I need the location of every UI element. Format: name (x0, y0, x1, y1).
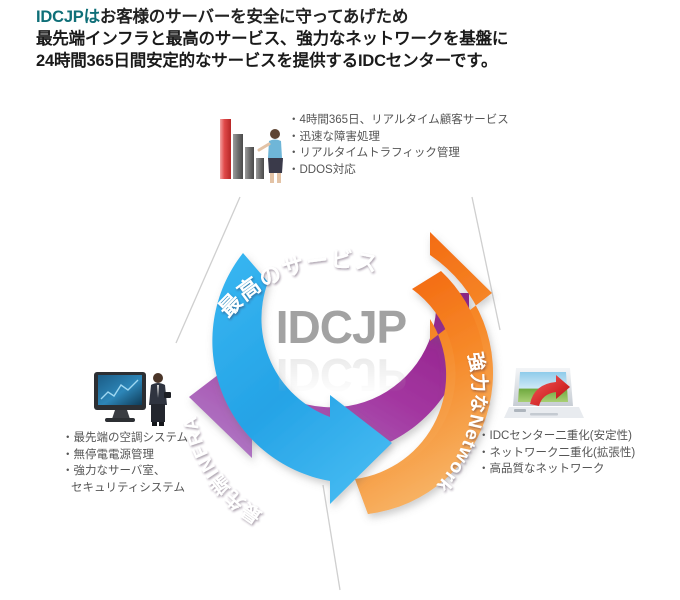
bullet-marker: ・ (62, 449, 74, 461)
monitor (94, 372, 146, 422)
center-wordmark-reflection-text: IDCJP (276, 349, 407, 401)
list-item-label: IDCセンター二重化(安定性) (490, 430, 632, 442)
bullet-marker: ・ (478, 430, 490, 442)
heading-line-1: IDCJPはお客様のサーバーを安全に守ってあげため (36, 6, 656, 28)
bullet-marker: ・ (288, 131, 300, 143)
businessman-figure (149, 373, 171, 426)
bullet-marker: ・ (288, 164, 300, 176)
heading-line-3: 24時間365日間安定的なサービスを提供するIDCセンターです。 (36, 50, 656, 72)
monitor-businessman-icon (88, 366, 180, 432)
bullet-marker: ・ (288, 114, 300, 126)
bullet-marker: ・ (288, 147, 300, 159)
list-item-label: 4時間365日、リアルタイム顧客サービス (300, 114, 509, 126)
list-item: ・迅速な障害処理 (288, 129, 509, 146)
list-item-label: 迅速な障害処理 (300, 131, 381, 143)
list-item-label: 強力なサーバ室、 (74, 465, 166, 477)
center-wordmark-reflection: IDCJP (276, 349, 407, 401)
bar-3 (245, 147, 254, 179)
callout-left-list: ・最先端の空調システム ・無停電電源管理 ・強力なサーバ室、 セキュリティシステ… (62, 430, 188, 496)
bar-chart-person-icon (208, 108, 292, 192)
bullet-marker: ・ (62, 465, 74, 477)
list-item: ・IDCセンター二重化(安定性) (478, 428, 635, 445)
center-wordmark: IDCJP IDCJP (276, 301, 407, 401)
bullet-marker: ・ (62, 432, 74, 444)
heading-line-1-rest: お客様のサーバーを安全に守ってあげため (100, 8, 408, 26)
heading-line-2: 最先端インフラと最高のサービス、強力なネットワークを基盤に (36, 28, 656, 50)
callout-top-list: ・4時間365日、リアルタイム顧客サービス ・迅速な障害処理 ・リアルタイムトラ… (288, 112, 509, 178)
page-heading: IDCJPはお客様のサーバーを安全に守ってあげため 最先端インフラと最高のサービ… (36, 6, 656, 72)
bar-1 (220, 119, 231, 179)
bullet-marker: ・ (478, 463, 490, 475)
list-item: ・高品質なネットワーク (478, 461, 635, 478)
bar-2 (233, 134, 243, 179)
bullet-marker: ・ (478, 447, 490, 459)
list-item-label: ネットワーク二重化(拡張性) (490, 447, 636, 459)
list-item-label: 最先端の空調システム (74, 432, 189, 444)
list-item: ・DDOS対応 (288, 162, 509, 179)
list-item-label: 無停電電源管理 (74, 449, 155, 461)
list-item: ・強力なサーバ室、 (62, 463, 188, 480)
callout-right-list: ・IDCセンター二重化(安定性) ・ネットワーク二重化(拡張性) ・高品質なネッ… (478, 428, 635, 478)
list-item: ・ネットワーク二重化(拡張性) (478, 445, 635, 462)
list-item: ・リアルタイムトラフィック管理 (288, 145, 509, 162)
list-item-label: DDOS対応 (300, 164, 356, 176)
list-item-label: リアルタイムトラフィック管理 (300, 147, 460, 159)
center-wordmark-text: IDCJP (276, 301, 407, 353)
list-item-label: セキュリティシステム (71, 482, 185, 494)
brand-name: IDCJPは (36, 8, 100, 26)
list-item-label: 高品質なネットワーク (490, 463, 605, 475)
list-item: ・無停電電源管理 (62, 447, 188, 464)
laptop-arrow-icon (500, 362, 588, 424)
bar-4 (256, 158, 264, 179)
list-item: ・最先端の空調システム (62, 430, 188, 447)
list-item: ・4時間365日、リアルタイム顧客サービス (288, 112, 509, 129)
list-item-continuation: セキュリティシステム (62, 480, 188, 497)
